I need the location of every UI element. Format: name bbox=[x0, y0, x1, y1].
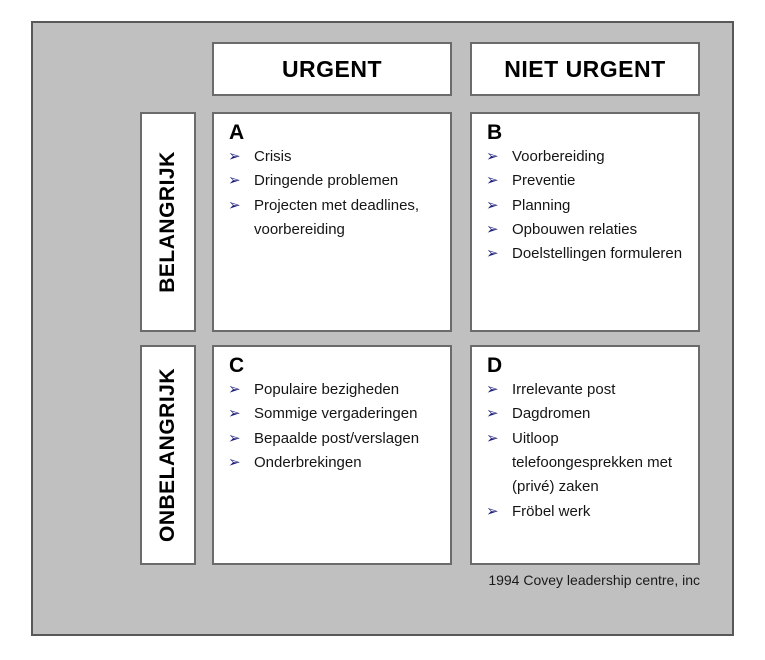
column-header-niet-urgent: NIET URGENT bbox=[470, 42, 700, 96]
bullet-arrow-icon: ➢ bbox=[486, 427, 499, 451]
list-item: ➢ Bepaalde post/verslagen bbox=[226, 427, 440, 451]
quadrant-d-letter: D bbox=[487, 355, 688, 377]
bullet-arrow-icon: ➢ bbox=[228, 402, 241, 426]
bullet-arrow-icon: ➢ bbox=[228, 145, 241, 169]
bullet-arrow-icon: ➢ bbox=[486, 500, 499, 524]
list-item: ➢ Onderbrekingen bbox=[226, 451, 440, 475]
quadrant-b-list: ➢ Voorbereiding ➢ Preventie ➢ Planning ➢… bbox=[484, 145, 688, 266]
quadrant-a-letter: A bbox=[229, 122, 440, 144]
list-item-label: Uitloop telefoongesprekken met (privé) z… bbox=[512, 430, 672, 496]
quadrant-d: D ➢ Irrelevante post ➢ Dagdromen ➢ Uitlo… bbox=[470, 345, 700, 565]
list-item: ➢ Planning bbox=[484, 194, 688, 218]
list-item: ➢ Irrelevante post bbox=[484, 378, 688, 402]
quadrant-c-letter: C bbox=[229, 355, 440, 377]
list-item: ➢ Populaire bezigheden bbox=[226, 378, 440, 402]
bullet-arrow-icon: ➢ bbox=[486, 145, 499, 169]
quadrant-b-letter: B bbox=[487, 122, 688, 144]
list-item-label: Irrelevante post bbox=[512, 381, 615, 398]
matrix-panel: URGENT NIET URGENT BELANGRIJK ONBELANGRI… bbox=[31, 21, 734, 636]
column-header-urgent-label: URGENT bbox=[282, 56, 382, 83]
quadrant-b: B ➢ Voorbereiding ➢ Preventie ➢ Planning… bbox=[470, 112, 700, 332]
row-label-onbelangrijk-text: ONBELANGRIJK bbox=[156, 368, 180, 542]
list-item: ➢ Doelstellingen formuleren bbox=[484, 242, 688, 266]
list-item-label: Crisis bbox=[254, 148, 292, 165]
list-item: ➢ Dringende problemen bbox=[226, 169, 440, 193]
bullet-arrow-icon: ➢ bbox=[486, 378, 499, 402]
quadrant-d-list: ➢ Irrelevante post ➢ Dagdromen ➢ Uitloop… bbox=[484, 378, 688, 524]
bullet-arrow-icon: ➢ bbox=[228, 427, 241, 451]
list-item: ➢ Fröbel werk bbox=[484, 500, 688, 524]
list-item-label: Dagdromen bbox=[512, 405, 590, 422]
bullet-arrow-icon: ➢ bbox=[228, 451, 241, 475]
column-header-niet-urgent-label: NIET URGENT bbox=[504, 56, 665, 83]
list-item-label: Voorbereiding bbox=[512, 148, 605, 165]
list-item-label: Dringende problemen bbox=[254, 172, 398, 189]
bullet-arrow-icon: ➢ bbox=[228, 169, 241, 193]
column-header-urgent: URGENT bbox=[212, 42, 452, 96]
bullet-arrow-icon: ➢ bbox=[486, 194, 499, 218]
list-item: ➢ Projecten met deadlines, voorbereiding bbox=[226, 194, 440, 243]
list-item: ➢ Preventie bbox=[484, 169, 688, 193]
list-item-label: Opbouwen relaties bbox=[512, 221, 637, 238]
list-item-label: Planning bbox=[512, 197, 570, 214]
bullet-arrow-icon: ➢ bbox=[486, 242, 499, 266]
bullet-arrow-icon: ➢ bbox=[228, 378, 241, 402]
quadrant-c: C ➢ Populaire bezigheden ➢ Sommige verga… bbox=[212, 345, 452, 565]
row-label-belangrijk: BELANGRIJK bbox=[140, 112, 196, 332]
quadrant-a: A ➢ Crisis ➢ Dringende problemen ➢ Proje… bbox=[212, 112, 452, 332]
list-item-label: Onderbrekingen bbox=[254, 454, 362, 471]
list-item: ➢ Sommige vergaderingen bbox=[226, 402, 440, 426]
list-item: ➢ Voorbereiding bbox=[484, 145, 688, 169]
list-item: ➢ Uitloop telefoongesprekken met (privé)… bbox=[484, 427, 688, 500]
bullet-arrow-icon: ➢ bbox=[486, 169, 499, 193]
quadrant-c-list: ➢ Populaire bezigheden ➢ Sommige vergade… bbox=[226, 378, 440, 475]
list-item-label: Fröbel werk bbox=[512, 503, 590, 520]
quadrant-a-list: ➢ Crisis ➢ Dringende problemen ➢ Project… bbox=[226, 145, 440, 242]
row-label-onbelangrijk: ONBELANGRIJK bbox=[140, 345, 196, 565]
list-item-label: Populaire bezigheden bbox=[254, 381, 399, 398]
list-item-label: Doelstellingen formuleren bbox=[512, 245, 682, 262]
list-item-label: Projecten met deadlines, voorbereiding bbox=[254, 197, 419, 238]
bullet-arrow-icon: ➢ bbox=[228, 194, 241, 218]
list-item-label: Sommige vergaderingen bbox=[254, 405, 417, 422]
row-label-belangrijk-text: BELANGRIJK bbox=[156, 151, 180, 293]
list-item: ➢ Opbouwen relaties bbox=[484, 218, 688, 242]
credit-line: 1994 Covey leadership centre, inc bbox=[443, 572, 700, 588]
list-item-label: Preventie bbox=[512, 172, 575, 189]
bullet-arrow-icon: ➢ bbox=[486, 402, 499, 426]
list-item: ➢ Crisis bbox=[226, 145, 440, 169]
list-item: ➢ Dagdromen bbox=[484, 402, 688, 426]
bullet-arrow-icon: ➢ bbox=[486, 218, 499, 242]
list-item-label: Bepaalde post/verslagen bbox=[254, 430, 419, 447]
